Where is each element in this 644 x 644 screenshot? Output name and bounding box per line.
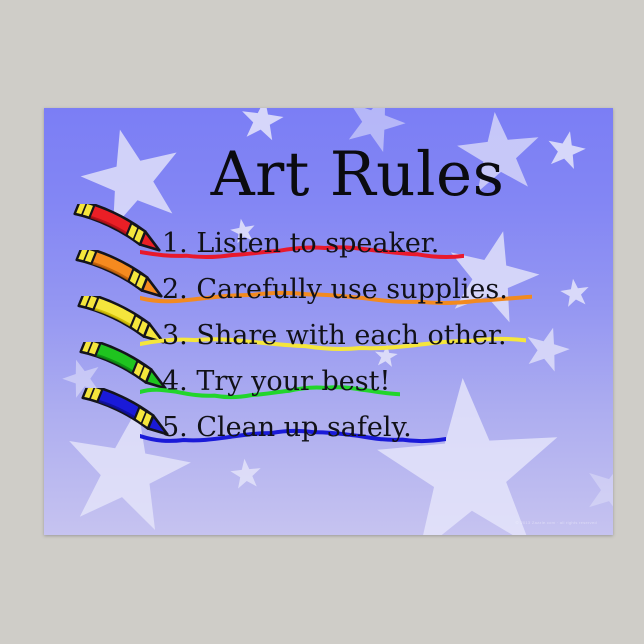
art-rules-poster: Art Rules 1. Listen to speaker.2. Carefu… <box>44 108 613 535</box>
rule-text: 1. Listen to speaker. <box>162 226 439 262</box>
poster-canvas: Art Rules 1. Listen to speaker.2. Carefu… <box>0 0 644 644</box>
rule-item: 3. Share with each other. <box>162 318 602 364</box>
rule-text: 2. Carefully use supplies. <box>162 272 508 308</box>
watermark-text: © 2013 Zazzle.com · all rights reserved <box>516 520 597 525</box>
rule-item: 4. Try your best! <box>162 364 602 410</box>
rule-text: 5. Clean up safely. <box>162 410 412 446</box>
rule-item: 1. Listen to speaker. <box>162 226 602 272</box>
page-title: Art Rules <box>44 144 613 205</box>
rule-text: 3. Share with each other. <box>162 318 507 354</box>
rules-list: 1. Listen to speaker.2. Carefully use su… <box>162 226 602 456</box>
rule-text: 4. Try your best! <box>162 364 390 400</box>
rule-item: 5. Clean up safely. <box>162 410 602 456</box>
rule-item: 2. Carefully use supplies. <box>162 272 602 318</box>
